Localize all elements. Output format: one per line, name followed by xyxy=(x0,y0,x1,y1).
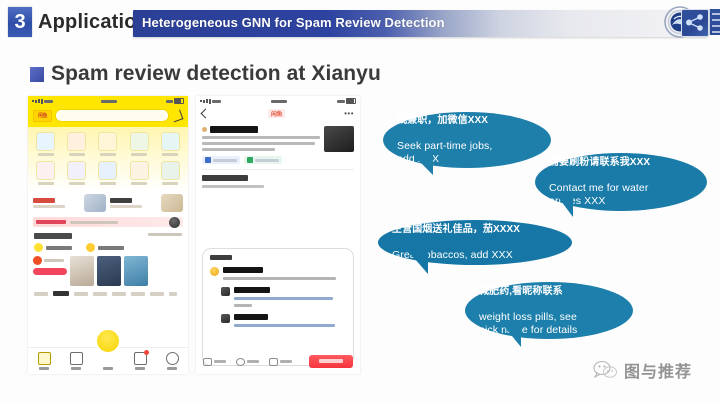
callout-text-cn: 找兼职，加微信XXX xyxy=(397,114,492,127)
action-share[interactable] xyxy=(269,358,292,366)
tag-chip[interactable] xyxy=(202,156,240,164)
search-input[interactable] xyxy=(55,109,169,122)
tab-profile[interactable] xyxy=(166,352,179,370)
category-grid[interactable] xyxy=(28,127,188,191)
xianyu-home-screenshot: 闲鱼 xyxy=(28,96,188,374)
redacted-username xyxy=(210,126,258,133)
watermark-text: 图与推荐 xyxy=(624,358,692,382)
share-network-icon[interactable] xyxy=(681,9,709,37)
product-card-row[interactable] xyxy=(28,254,188,286)
promo-banner-row[interactable] xyxy=(28,191,188,215)
section-title xyxy=(34,233,72,239)
callout-text-cn: 主营国烟送礼佳品，茄XXXX xyxy=(392,223,520,236)
product-image[interactable] xyxy=(124,256,148,286)
status-bar xyxy=(28,96,188,106)
category-item[interactable] xyxy=(92,161,123,185)
section-more-link[interactable] xyxy=(148,233,182,236)
battery-icons xyxy=(166,98,185,104)
tab-fish-pond[interactable] xyxy=(70,352,83,370)
star-icon xyxy=(203,358,212,366)
callout-text-cn: 减肥药,看昵称联系 xyxy=(479,285,577,298)
page-title-text: Spam review detection at Xianyu xyxy=(51,62,381,86)
category-item[interactable] xyxy=(92,132,123,156)
promo-image-b xyxy=(161,194,183,212)
search-row[interactable]: 闲鱼 xyxy=(28,106,188,127)
action-like[interactable] xyxy=(236,358,259,366)
filter-tabs[interactable] xyxy=(28,286,188,299)
camera-scan-icon[interactable] xyxy=(171,109,184,122)
blue-square-bullet-icon xyxy=(30,67,44,82)
avatar xyxy=(169,217,180,228)
message-icon xyxy=(134,352,147,365)
ellipsis-icon[interactable]: ••• xyxy=(344,112,354,116)
bubble-tail xyxy=(408,251,428,274)
share-icon xyxy=(269,358,278,366)
category-item[interactable] xyxy=(30,161,61,185)
comment-count-label xyxy=(210,255,232,260)
tag-chip[interactable] xyxy=(244,156,282,164)
redacted-username xyxy=(223,267,263,273)
divider xyxy=(202,169,354,170)
slide-header: 3 Application Heterogeneous GNN for Spam… xyxy=(0,0,720,46)
action-bar[interactable] xyxy=(196,355,360,368)
signal-icons xyxy=(32,99,53,104)
tab-home[interactable] xyxy=(38,352,51,370)
clock xyxy=(271,100,287,103)
section-heading xyxy=(202,175,248,181)
avatar xyxy=(210,267,219,276)
redacted-username xyxy=(234,314,268,320)
chevron-left-icon[interactable] xyxy=(201,109,211,119)
comment-item[interactable] xyxy=(221,314,346,327)
deal-cta-button[interactable] xyxy=(33,268,67,275)
product-image[interactable] xyxy=(97,256,121,286)
list-menu-icon[interactable] xyxy=(709,9,720,35)
pond-icon xyxy=(70,352,83,365)
bubble-tail xyxy=(503,325,521,347)
callout-bubble-weight-loss-pills: 减肥药,看昵称联系 weight loss pills, see nick na… xyxy=(465,282,633,339)
plus-circle-icon[interactable] xyxy=(95,328,121,354)
person-icon xyxy=(166,352,179,365)
callout-text: 减肥药,看昵称联系 weight loss pills, see nick na… xyxy=(465,272,591,350)
category-item[interactable] xyxy=(155,132,186,156)
clock xyxy=(101,100,117,103)
post-author[interactable] xyxy=(202,126,320,133)
callout-bubble-water-armies: 需要刷粉请联系我XXX Contact me for water armies … xyxy=(535,153,707,211)
nav-bar[interactable]: 闲鱼 ••• xyxy=(196,106,360,122)
callout-text-cn: 需要刷粉请联系我XXX xyxy=(549,156,650,169)
redacted-username xyxy=(234,287,270,293)
section-number-badge: 3 xyxy=(8,7,32,37)
category-item[interactable] xyxy=(124,161,155,185)
brand-label: 闲鱼 xyxy=(268,109,285,118)
post-thumbnail[interactable] xyxy=(324,126,354,152)
bubble-tail xyxy=(555,193,573,217)
bubble-tail xyxy=(411,153,433,175)
callout-text-en: weight loss pills, see nick name for det… xyxy=(479,311,577,337)
avatar xyxy=(221,287,230,296)
post-body xyxy=(196,122,360,152)
category-item[interactable] xyxy=(61,161,92,185)
callout-bubble-tobaccos: 主营国烟送礼佳品，茄XXXX Great tobaccos, add XXX xyxy=(378,220,572,265)
action-favorite[interactable] xyxy=(203,358,226,366)
battery-icons xyxy=(337,98,357,104)
category-item[interactable] xyxy=(61,132,92,156)
xianyu-post-detail-screenshot: 闲鱼 ••• xyxy=(196,96,360,374)
promo-text-b xyxy=(110,198,157,208)
signal-icons xyxy=(200,99,221,104)
tag-chip-row[interactable] xyxy=(196,152,360,164)
callout-text: 找兼职，加微信XXX Seek part-time jobs, add XXX xyxy=(383,101,506,179)
promo-image-a xyxy=(84,194,106,212)
deal-card[interactable] xyxy=(33,256,67,275)
category-item[interactable] xyxy=(30,132,61,156)
tag-row[interactable] xyxy=(28,239,188,254)
promo-strip[interactable] xyxy=(33,217,183,227)
title-bar-text: Heterogeneous GNN for Spam Review Detect… xyxy=(142,15,445,30)
tag-item[interactable] xyxy=(34,243,72,252)
left-phone-top: 闲鱼 xyxy=(28,96,188,127)
promo-text-a xyxy=(33,198,80,208)
author-avatar xyxy=(202,127,207,132)
bottom-tab-bar[interactable] xyxy=(28,347,188,374)
comment-item[interactable] xyxy=(221,287,346,307)
product-image[interactable] xyxy=(70,256,94,286)
category-item[interactable] xyxy=(124,132,155,156)
unread-dot-icon xyxy=(144,350,149,355)
tab-messages[interactable] xyxy=(134,352,147,370)
post-text-block xyxy=(202,126,320,152)
title-bar: Heterogeneous GNN for Spam Review Detect… xyxy=(133,10,708,37)
page-title: Spam review detection at Xianyu xyxy=(30,62,381,86)
heart-icon xyxy=(236,358,245,366)
callout-text: 主营国烟送礼佳品，茄XXXX Great tobaccos, add XXX xyxy=(378,210,534,275)
wechat-official-account-icon xyxy=(592,359,618,381)
avatar xyxy=(221,314,230,323)
category-item[interactable] xyxy=(155,161,186,185)
comment-card xyxy=(202,248,354,366)
section-subheading xyxy=(202,185,264,188)
tab-publish[interactable] xyxy=(102,352,115,370)
status-bar xyxy=(196,96,360,106)
callout-bubble-part-time-jobs: 找兼职，加微信XXX Seek part-time jobs, add XXX xyxy=(383,112,551,168)
want-it-button[interactable] xyxy=(309,355,353,368)
watermark: 图与推荐 xyxy=(592,358,692,382)
home-icon xyxy=(38,352,51,365)
deal-badge-icon xyxy=(33,256,42,265)
xianyu-logo: 闲鱼 xyxy=(33,110,52,122)
comment-item[interactable] xyxy=(210,267,346,280)
filter-tab-active[interactable] xyxy=(53,291,69,296)
tag-item[interactable] xyxy=(86,243,124,252)
